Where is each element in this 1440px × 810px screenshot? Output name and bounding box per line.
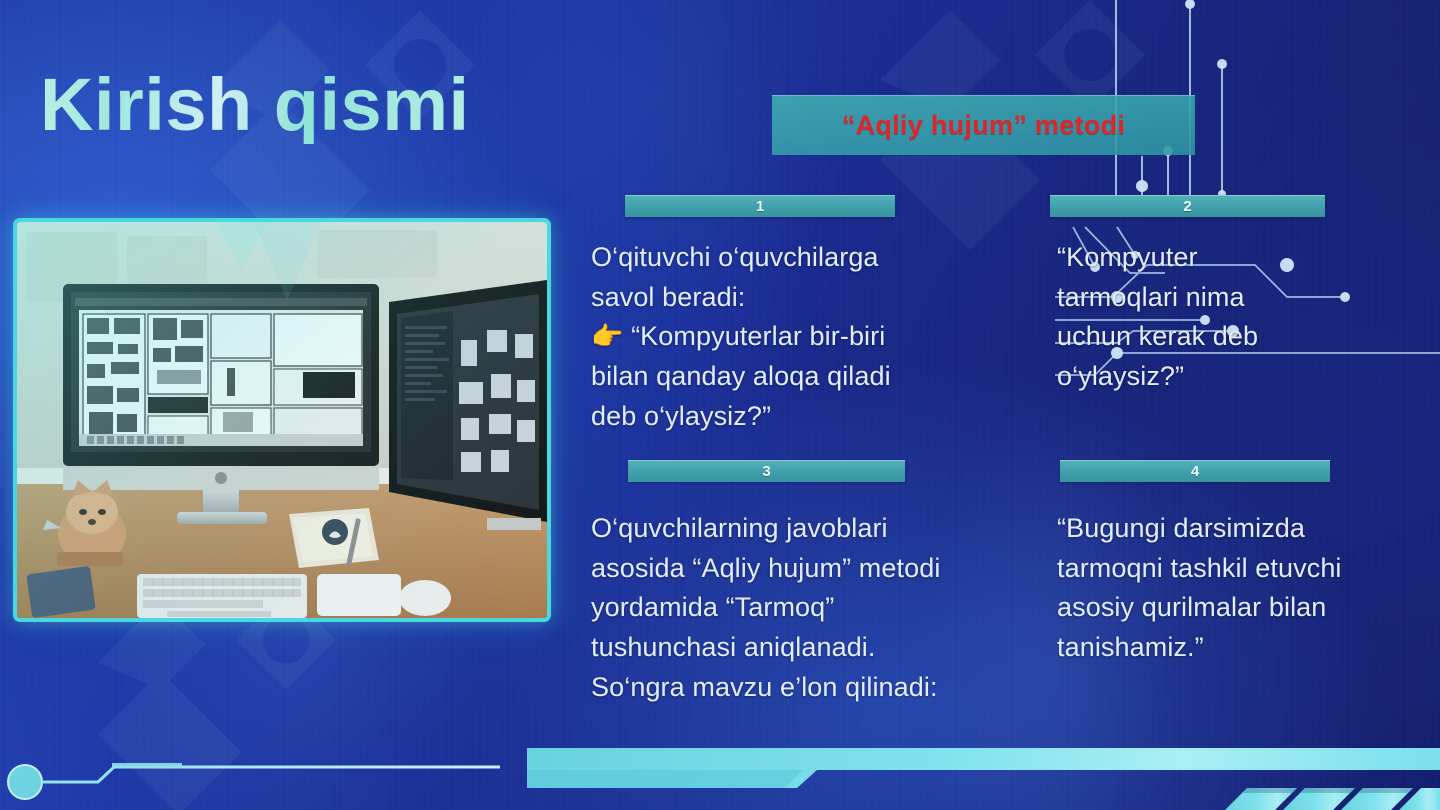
header-banner: “Aqliy hujum” metodi xyxy=(772,95,1195,155)
number-tab-3-label: 3 xyxy=(762,463,770,480)
content-block-1-quote: “Kompyuterlar bir-biri bilan qanday aloq… xyxy=(591,321,891,430)
number-tab-1-label: 1 xyxy=(756,198,764,215)
number-tab-1[interactable]: 1 xyxy=(625,195,895,217)
content-block-3: O‘quvchilarning javoblari asosida “Aqliy… xyxy=(591,509,1021,707)
number-tab-2-label: 2 xyxy=(1183,198,1191,215)
page-title: Kirish qismi xyxy=(40,66,470,144)
content-block-4: “Bugungi darsimizda tarmoqni tashkil etu… xyxy=(1057,509,1422,668)
illustration-photo-frame xyxy=(13,218,551,622)
content-block-2: “Kompyuter tarmoqlari nima uchun kerak d… xyxy=(1057,238,1427,397)
content-block-1: O‘qituvchi o‘quvchilarga savol beradi: 👉… xyxy=(591,238,991,436)
slide-canvas: Kirish qismi xyxy=(0,0,1440,810)
number-tab-2[interactable]: 2 xyxy=(1050,195,1325,217)
content-block-1-intro: O‘qituvchi o‘quvchilarga savol beradi: xyxy=(591,242,879,312)
desk-setup-photo xyxy=(17,222,547,618)
number-tab-3[interactable]: 3 xyxy=(628,460,905,482)
number-tab-4[interactable]: 4 xyxy=(1060,460,1330,482)
header-banner-label: “Aqliy hujum” metodi xyxy=(842,110,1126,141)
bottom-right-bar-decoration xyxy=(527,748,1440,810)
pointing-hand-icon: 👉 xyxy=(591,321,623,351)
bottom-left-circuit-decoration xyxy=(0,745,520,805)
number-tab-4-label: 4 xyxy=(1191,463,1199,480)
